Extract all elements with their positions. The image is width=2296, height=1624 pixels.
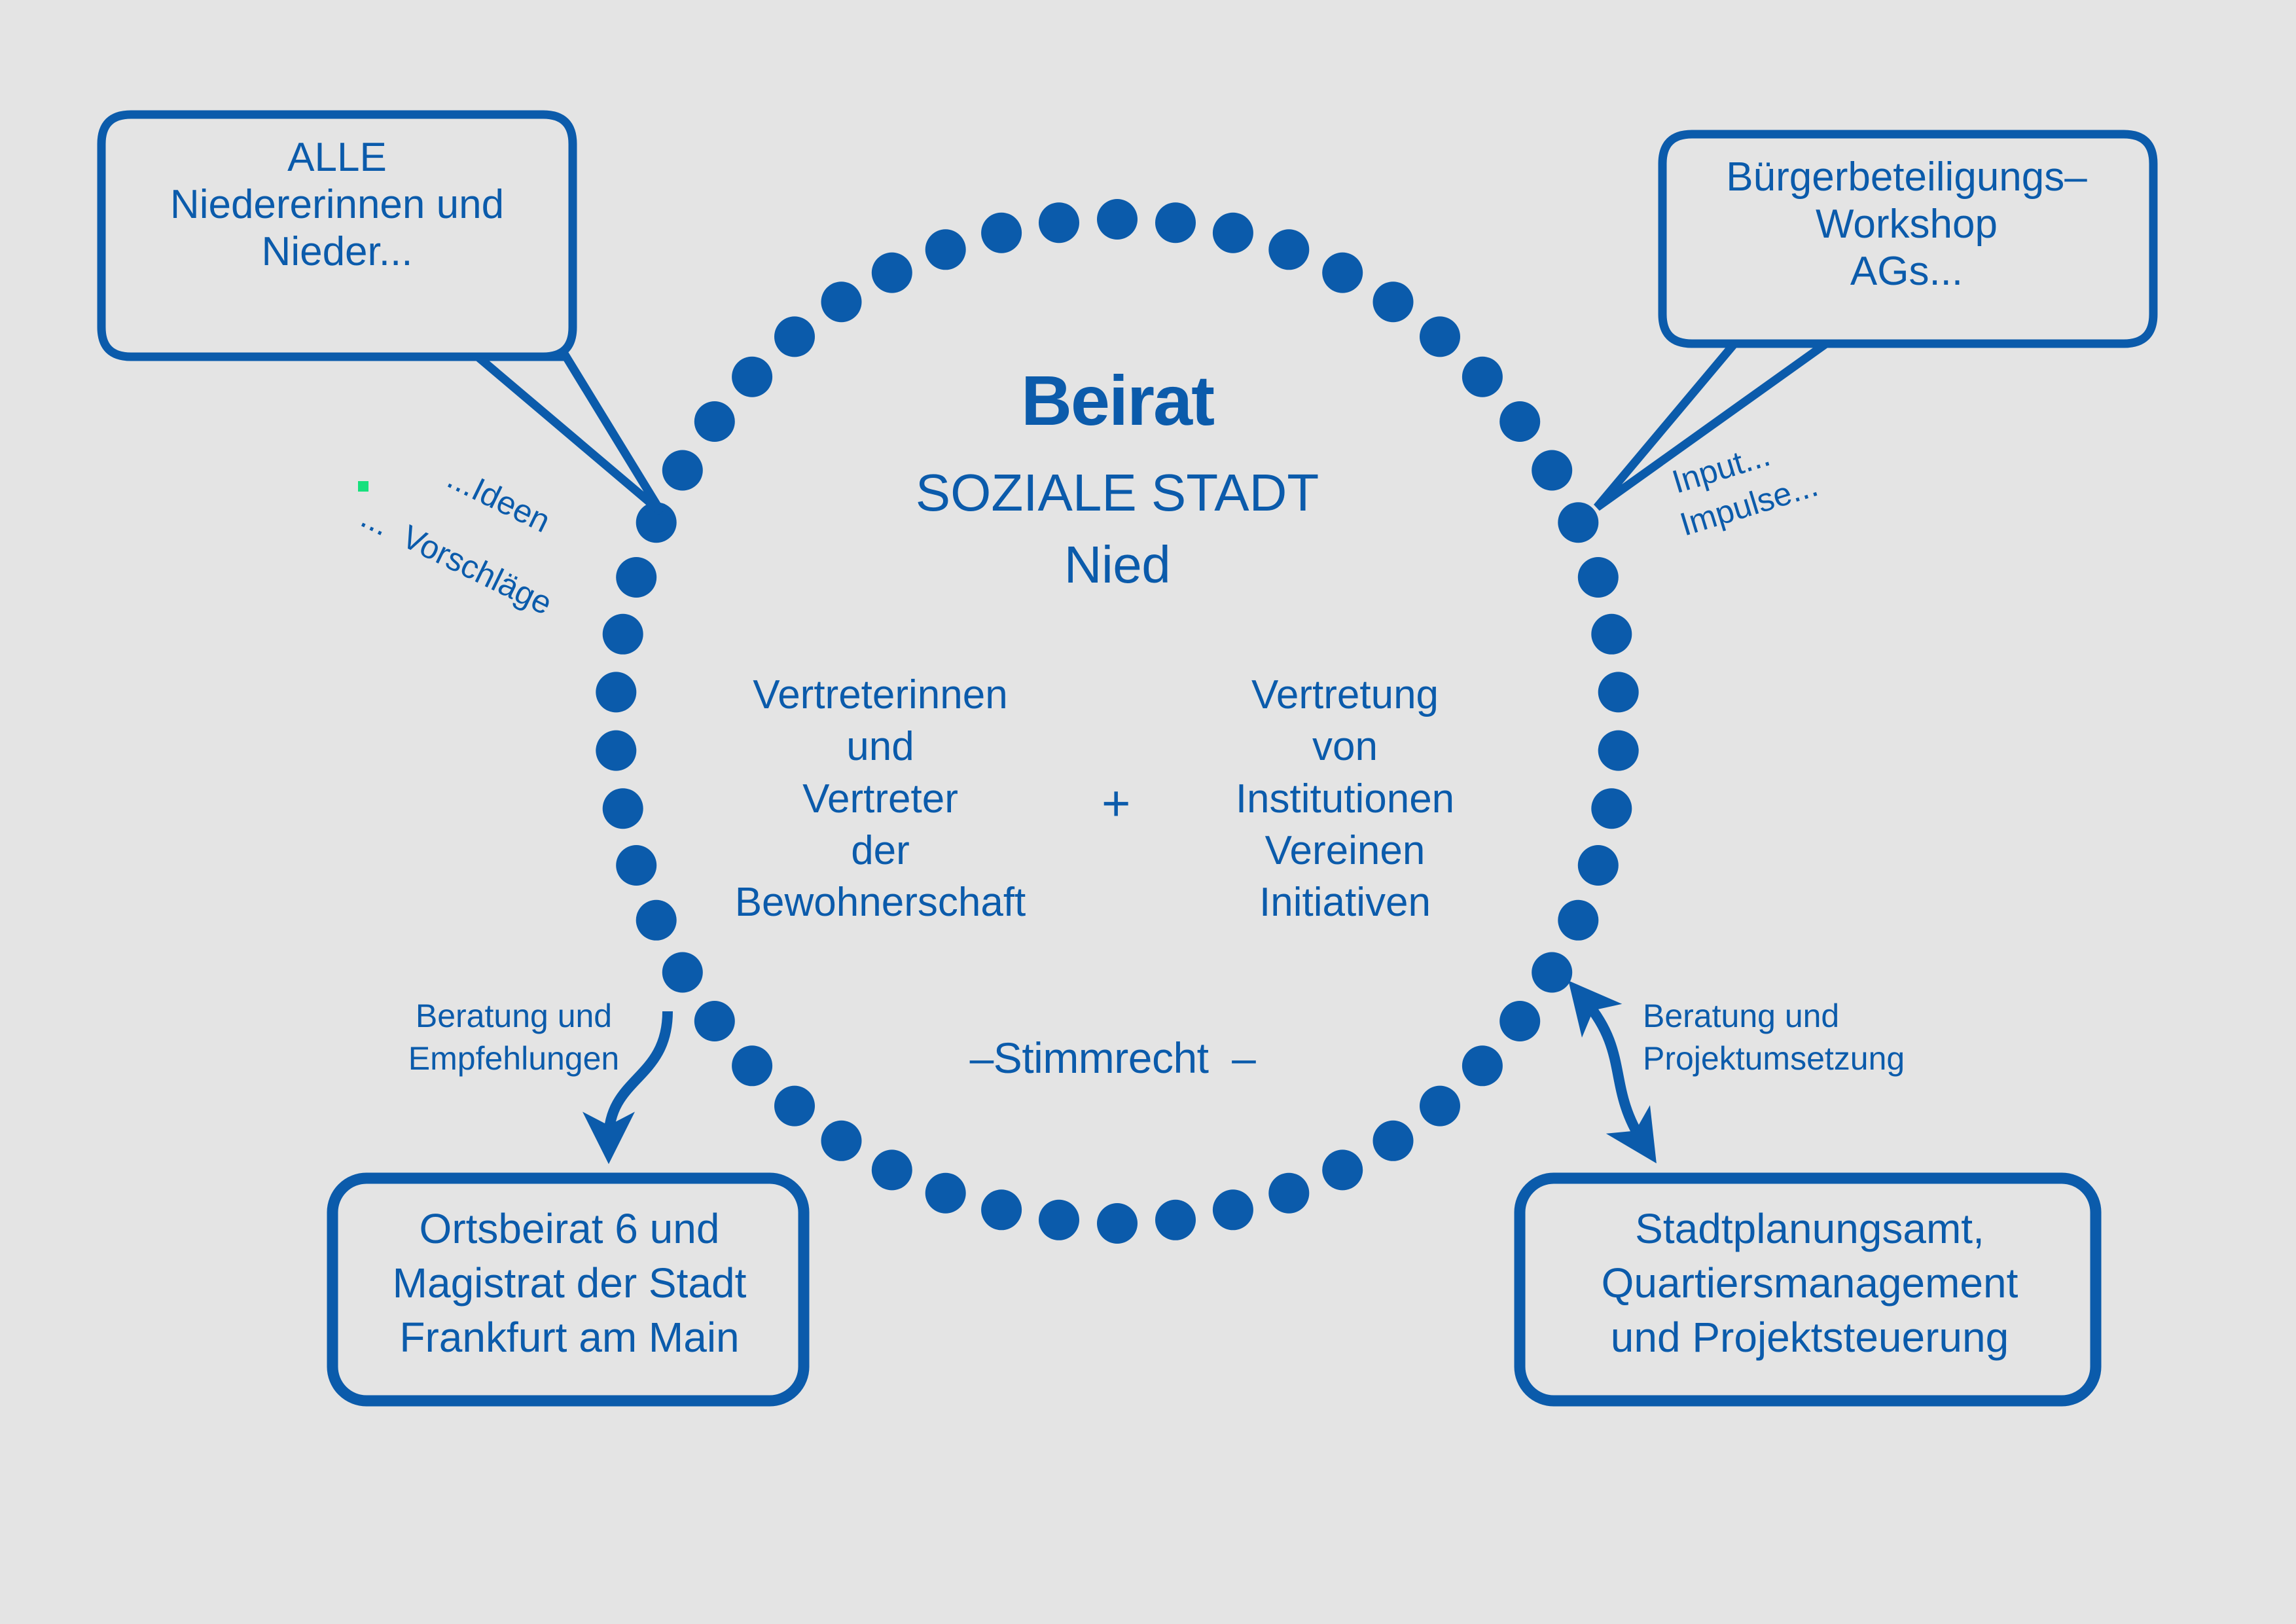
center-column-right: Vertretung von Institutionen Vereinen In…: [1181, 669, 1509, 929]
ring-dot: [1578, 557, 1619, 598]
ring-dot: [774, 316, 815, 357]
ring-dot: [1213, 213, 1253, 253]
ring-dot: [616, 557, 656, 598]
box-bottom-right-label: Stadtplanungsamt, Quartiersmanagement un…: [1525, 1202, 2094, 1365]
ring-dot: [1373, 1121, 1414, 1161]
speech-bubble-top-left-label: ALLE Niedererinnen und Nieder...: [115, 134, 560, 276]
ring-dot: [981, 1189, 1022, 1230]
ring-dot: [694, 1001, 735, 1041]
ring-dot: [1558, 502, 1598, 543]
ring-dot: [1499, 401, 1540, 442]
ring-dot: [636, 900, 677, 941]
ring-dot: [1097, 1203, 1138, 1244]
label-beratung-projektumsetzung: Beratung und Projektumsetzung: [1643, 995, 1970, 1080]
ring-dot: [1578, 845, 1619, 886]
ring-dot: [821, 281, 862, 322]
ring-dot: [1420, 1086, 1460, 1127]
ring-dot: [662, 450, 703, 491]
ring-dot: [1155, 202, 1196, 243]
ring-dot: [596, 672, 636, 712]
ring-dot: [1373, 281, 1414, 322]
ring-dot: [662, 952, 703, 993]
ring-dot: [1591, 614, 1632, 655]
ring-dot: [821, 1121, 862, 1161]
ring-dot: [1499, 1001, 1540, 1041]
ring-dot: [872, 253, 912, 293]
ring-dot: [603, 614, 643, 655]
diagram-canvas: ALLE Niedererinnen und Nieder... Bürgerb…: [0, 0, 2296, 1624]
center-footnote-stimmrecht: –Stimmrecht –: [903, 1034, 1322, 1083]
ring-dot: [616, 845, 656, 886]
center-subtitle-line-1: SOZIALE STADT: [810, 463, 1425, 522]
label-beratung-empfehlungen: Beratung und Empfehlungen: [376, 995, 651, 1080]
ring-dot: [596, 731, 636, 771]
ring-dot: [694, 401, 735, 442]
plus-operator: +: [1077, 776, 1155, 831]
ring-dot: [1598, 672, 1639, 712]
ring-dot: [774, 1086, 815, 1127]
center-column-left: Vertreterinnen und Vertreter der Bewohne…: [704, 669, 1057, 929]
ring-dot: [1322, 253, 1363, 293]
ring-dot: [1097, 199, 1138, 240]
ring-dot: [925, 1173, 966, 1214]
ring-dot: [1462, 357, 1503, 397]
ring-dot: [1268, 1173, 1309, 1214]
ring-dot: [1591, 788, 1632, 829]
ring-dot: [1598, 731, 1639, 771]
ring-dot: [732, 357, 772, 397]
ring-dot: [872, 1149, 912, 1190]
ring-dot: [1155, 1200, 1196, 1240]
ring-dot: [1558, 900, 1598, 941]
center-subtitle-line-2: Nied: [810, 535, 1425, 594]
speech-bubble-top-right-label: Bürgerbeteiligungs– Workshop AGs...: [1668, 154, 2145, 295]
ring-dot: [1322, 1149, 1363, 1190]
center-title: Beirat: [810, 361, 1425, 441]
ring-dot: [981, 213, 1022, 253]
ring-dot: [1268, 229, 1309, 270]
ring-dot: [1420, 316, 1460, 357]
green-marker-dot: [358, 481, 368, 492]
ring-dot: [1532, 450, 1572, 491]
ring-dot: [1039, 1200, 1079, 1240]
ring-dot: [925, 229, 966, 270]
ring-dot: [1213, 1189, 1253, 1230]
ring-dot: [732, 1045, 772, 1086]
box-bottom-left-label: Ortsbeirat 6 und Magistrat der Stadt Fra…: [340, 1202, 798, 1365]
ring-dot: [603, 788, 643, 829]
ring-dot: [1462, 1045, 1503, 1086]
ring-dot: [1532, 952, 1572, 993]
ring-dot: [1039, 202, 1079, 243]
arrow-right-advisory: [1586, 1001, 1643, 1142]
